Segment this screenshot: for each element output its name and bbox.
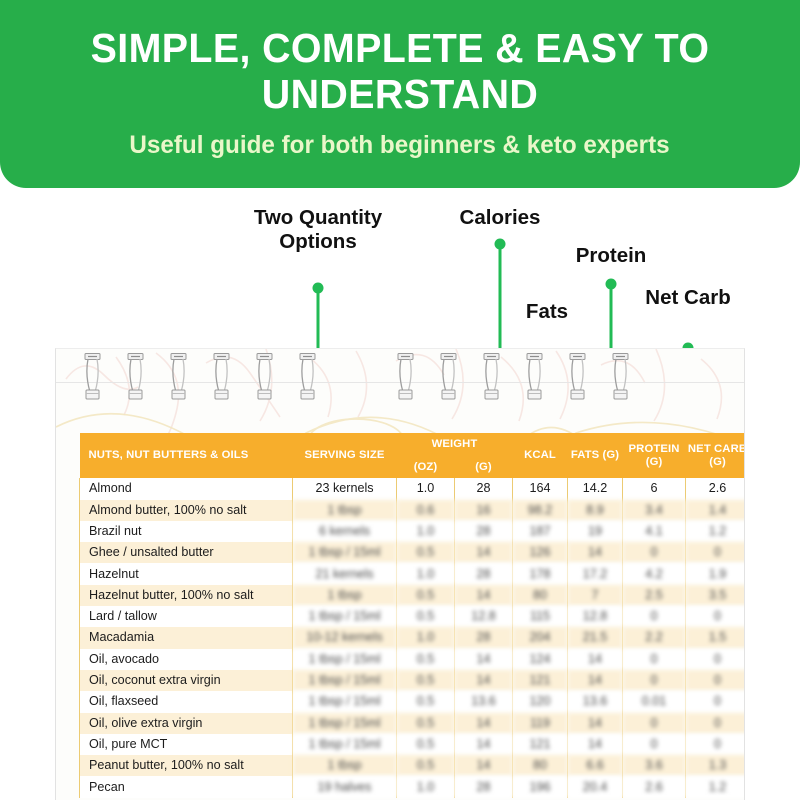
cell-food-name: Almond butter, 100% no salt [80, 500, 293, 521]
cell-food-name: Oil, olive extra virgin [80, 713, 293, 734]
column-header-weight-g: (G) [455, 456, 513, 479]
cell-protein: 2.2 [623, 627, 686, 648]
table-row: Oil, flaxseed1 tbsp / 15ml0.513.612013.6… [80, 691, 746, 712]
cell-protein: 0 [623, 670, 686, 691]
table-row: Almond butter, 100% no salt1 tbsp0.61698… [80, 500, 746, 521]
cell-protein: 4.2 [623, 563, 686, 584]
cell-oz: 0.5 [397, 713, 455, 734]
cell-netcarb: 0 [686, 649, 745, 670]
cell-food-name: Almond [80, 478, 293, 499]
page-subtitle: Useful guide for both beginners & keto e… [130, 131, 670, 160]
cell-oz: 0.5 [397, 585, 455, 606]
spiral-ring [397, 353, 414, 400]
cell-serving: 1 tbsp / 15ml [293, 734, 397, 755]
cell-food-name: Peanut butter, 100% no salt [80, 755, 293, 776]
table-row: Ghee / unsalted butter1 tbsp / 15ml0.514… [80, 542, 746, 563]
cell-serving: 1 tbsp / 15ml [293, 670, 397, 691]
callout-label-fats: Fats [526, 300, 568, 324]
cell-fats: 20.4 [568, 776, 623, 797]
cell-kcal: 98.2 [513, 500, 568, 521]
cell-oz: 1.0 [397, 627, 455, 648]
cell-kcal: 164 [513, 478, 568, 499]
cell-kcal: 187 [513, 521, 568, 542]
table-row: Almond23 kernels1.02816414.262.6 [80, 478, 746, 499]
cell-g: 14 [455, 755, 513, 776]
cell-serving: 19 halves [293, 776, 397, 797]
page-title: SIMPLE, COMPLETE & EASY TO UNDERSTAND [64, 26, 736, 118]
callout-label-net-carb: Net Carb [645, 286, 730, 310]
cell-g: 12.8 [455, 606, 513, 627]
cell-fats: 14 [568, 649, 623, 670]
cell-netcarb: 0 [686, 670, 745, 691]
cell-protein: 0 [623, 734, 686, 755]
cell-protein: 0.01 [623, 691, 686, 712]
cell-fats: 14.2 [568, 478, 623, 499]
callout-dot-protein-start [606, 279, 617, 290]
cell-netcarb: 1.2 [686, 521, 745, 542]
callout-label-calories: Calories [460, 206, 541, 230]
printable-chart-sheet: NUTS, NUT BUTTERS & OILS SERVING SIZE WE… [55, 348, 745, 800]
cell-fats: 14 [568, 734, 623, 755]
column-header-kcal: KCAL [513, 433, 568, 478]
table-row: Oil, olive extra virgin1 tbsp / 15ml0.51… [80, 713, 746, 734]
cell-fats: 13.6 [568, 691, 623, 712]
cell-serving: 1 tbsp / 15ml [293, 606, 397, 627]
cell-kcal: 115 [513, 606, 568, 627]
cell-kcal: 119 [513, 713, 568, 734]
cell-food-name: Hazelnut butter, 100% no salt [80, 585, 293, 606]
cell-kcal: 124 [513, 649, 568, 670]
column-header-name: NUTS, NUT BUTTERS & OILS [80, 433, 293, 478]
cell-food-name: Oil, coconut extra virgin [80, 670, 293, 691]
cell-g: 28 [455, 478, 513, 499]
cell-oz: 0.5 [397, 755, 455, 776]
cell-food-name: Oil, flaxseed [80, 691, 293, 712]
cell-protein: 3.6 [623, 755, 686, 776]
cell-kcal: 80 [513, 585, 568, 606]
spiral-ring [612, 353, 629, 400]
spiral-ring [526, 353, 543, 400]
cell-fats: 14 [568, 542, 623, 563]
cell-kcal: 121 [513, 670, 568, 691]
cell-g: 28 [455, 521, 513, 542]
cell-netcarb: 0 [686, 734, 745, 755]
cell-fats: 14 [568, 670, 623, 691]
cell-food-name: Oil, avocado [80, 649, 293, 670]
cell-g: 13.6 [455, 691, 513, 712]
nutrition-table: NUTS, NUT BUTTERS & OILS SERVING SIZE WE… [79, 433, 745, 798]
cell-kcal: 80 [513, 755, 568, 776]
cell-g: 28 [455, 563, 513, 584]
cell-food-name: Macadamia [80, 627, 293, 648]
cell-netcarb: 1.9 [686, 563, 745, 584]
cell-fats: 14 [568, 713, 623, 734]
cell-netcarb: 0 [686, 691, 745, 712]
table-row: Macadamia10-12 kernels1.02820421.52.21.5 [80, 627, 746, 648]
cell-serving: 1 tbsp / 15ml [293, 542, 397, 563]
callout-dot-two-quantity-options-start [313, 283, 324, 294]
cell-oz: 1.0 [397, 563, 455, 584]
cell-serving: 10-12 kernels [293, 627, 397, 648]
cell-g: 16 [455, 500, 513, 521]
cell-fats: 17.2 [568, 563, 623, 584]
cell-netcarb: 3.5 [686, 585, 745, 606]
column-header-net-carb: NET CARB (G) [686, 433, 745, 478]
callout-label-two-quantity-options: Two Quantity Options [254, 206, 382, 254]
callout-label-protein: Protein [576, 244, 647, 268]
cell-food-name: Ghee / unsalted butter [80, 542, 293, 563]
cell-fats: 6.6 [568, 755, 623, 776]
cell-food-name: Hazelnut [80, 563, 293, 584]
spiral-ring [440, 353, 457, 400]
cell-kcal: 121 [513, 734, 568, 755]
column-header-weight-oz: (OZ) [397, 456, 455, 479]
cell-serving: 1 tbsp / 15ml [293, 649, 397, 670]
cell-protein: 2.6 [623, 776, 686, 797]
spiral-ring [256, 353, 273, 400]
cell-g: 28 [455, 776, 513, 797]
cell-fats: 19 [568, 521, 623, 542]
callout-dot-calories-start [495, 239, 506, 250]
cell-protein: 3.4 [623, 500, 686, 521]
spiral-ring [299, 353, 316, 400]
cell-serving: 21 kernels [293, 563, 397, 584]
spiral-ring [127, 353, 144, 400]
cell-fats: 7 [568, 585, 623, 606]
cell-oz: 0.5 [397, 670, 455, 691]
cell-netcarb: 0 [686, 713, 745, 734]
table-row: Hazelnut21 kernels1.02817817.24.21.9 [80, 563, 746, 584]
cell-serving: 1 tbsp / 15ml [293, 691, 397, 712]
cell-oz: 1.0 [397, 776, 455, 797]
cell-oz: 0.5 [397, 691, 455, 712]
table-header: NUTS, NUT BUTTERS & OILS SERVING SIZE WE… [80, 433, 746, 478]
cell-protein: 0 [623, 649, 686, 670]
cell-oz: 1.0 [397, 521, 455, 542]
cell-netcarb: 1.2 [686, 776, 745, 797]
cell-g: 14 [455, 713, 513, 734]
cell-fats: 12.8 [568, 606, 623, 627]
cell-fats: 8.9 [568, 500, 623, 521]
cell-oz: 0.5 [397, 734, 455, 755]
cell-protein: 4.1 [623, 521, 686, 542]
cell-netcarb: 1.4 [686, 500, 745, 521]
cell-netcarb: 1.3 [686, 755, 745, 776]
spiral-ring [483, 353, 500, 400]
column-header-protein: PROTEIN (G) [623, 433, 686, 478]
cell-protein: 6 [623, 478, 686, 499]
cell-food-name: Pecan [80, 776, 293, 797]
table-row: Oil, coconut extra virgin1 tbsp / 15ml0.… [80, 670, 746, 691]
table-row: Oil, pure MCT1 tbsp / 15ml0.5141211400 [80, 734, 746, 755]
cell-serving: 1 tbsp / 15ml [293, 713, 397, 734]
table-row: Peanut butter, 100% no salt1 tbsp0.51480… [80, 755, 746, 776]
spiral-ring [84, 353, 101, 400]
cell-netcarb: 0 [686, 542, 745, 563]
cell-protein: 0 [623, 542, 686, 563]
spiral-ring [569, 353, 586, 400]
column-header-serving-size: SERVING SIZE [293, 433, 397, 478]
cell-food-name: Brazil nut [80, 521, 293, 542]
column-header-weight-group: WEIGHT [397, 433, 513, 456]
table-header-row: NUTS, NUT BUTTERS & OILS SERVING SIZE WE… [80, 433, 746, 456]
cell-g: 28 [455, 627, 513, 648]
cell-serving: 1 tbsp [293, 500, 397, 521]
spiral-ring [170, 353, 187, 400]
cell-kcal: 204 [513, 627, 568, 648]
cell-fats: 21.5 [568, 627, 623, 648]
cell-oz: 0.5 [397, 649, 455, 670]
cell-oz: 0.5 [397, 606, 455, 627]
table-row: Pecan19 halves1.02819620.42.61.2 [80, 776, 746, 797]
cell-food-name: Oil, pure MCT [80, 734, 293, 755]
cell-netcarb: 0 [686, 606, 745, 627]
cell-serving: 23 kernels [293, 478, 397, 499]
table-row: Brazil nut6 kernels1.028187194.11.2 [80, 521, 746, 542]
cell-protein: 0 [623, 606, 686, 627]
cell-g: 14 [455, 649, 513, 670]
cell-kcal: 120 [513, 691, 568, 712]
cell-g: 14 [455, 542, 513, 563]
header-banner: SIMPLE, COMPLETE & EASY TO UNDERSTAND Us… [0, 0, 800, 188]
cell-oz: 1.0 [397, 478, 455, 499]
cell-kcal: 178 [513, 563, 568, 584]
cell-g: 14 [455, 670, 513, 691]
cell-serving: 6 kernels [293, 521, 397, 542]
cell-g: 14 [455, 585, 513, 606]
spiral-ring [213, 353, 230, 400]
cell-netcarb: 2.6 [686, 478, 745, 499]
cell-protein: 0 [623, 713, 686, 734]
cell-kcal: 126 [513, 542, 568, 563]
cell-kcal: 196 [513, 776, 568, 797]
cell-netcarb: 1.5 [686, 627, 745, 648]
table-row: Oil, avocado1 tbsp / 15ml0.5141241400 [80, 649, 746, 670]
table-body: Almond23 kernels1.02816414.262.6Almond b… [80, 478, 746, 797]
cell-serving: 1 tbsp [293, 755, 397, 776]
cell-g: 14 [455, 734, 513, 755]
table-row: Lard / tallow1 tbsp / 15ml0.512.811512.8… [80, 606, 746, 627]
cell-food-name: Lard / tallow [80, 606, 293, 627]
cell-serving: 1 tbsp [293, 585, 397, 606]
cell-oz: 0.6 [397, 500, 455, 521]
cell-oz: 0.5 [397, 542, 455, 563]
column-header-fats: FATS (G) [568, 433, 623, 478]
table-row: Hazelnut butter, 100% no salt1 tbsp0.514… [80, 585, 746, 606]
cell-protein: 2.5 [623, 585, 686, 606]
